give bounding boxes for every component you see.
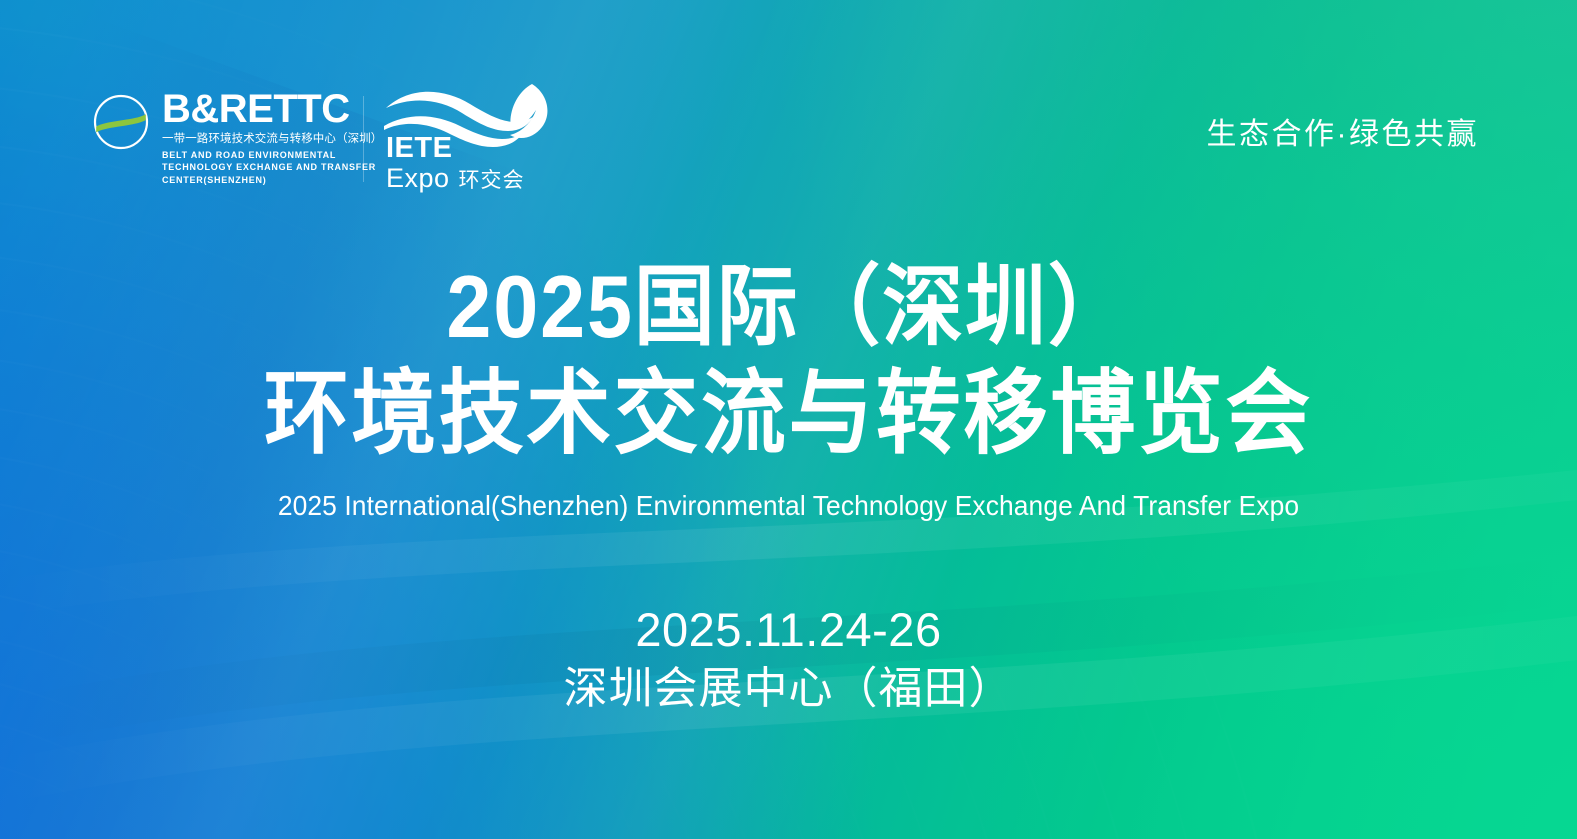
title-line-2: 环境技术交流与转移博览会 <box>63 368 1514 462</box>
title-line-1: 2025国际（深圳） <box>63 262 1514 352</box>
event-tagline: 生态合作·绿色共赢 <box>1207 109 1480 153</box>
brettc-english-name: BELT AND ROAD ENVIRONMENTAL TECHNOLOGY E… <box>162 149 377 187</box>
brettc-text-block: B&RETTC 一带一路环境技术交流与转移中心（深圳） BELT AND ROA… <box>162 90 382 187</box>
iete-subtitle-row: Expo 环交会 <box>386 165 525 192</box>
event-venue: 深圳会展中心（福田） <box>0 663 1577 715</box>
event-details-block: 2025.11.24-26 深圳会展中心（福田） <box>0 604 1577 715</box>
header-divider <box>363 96 364 182</box>
iete-expo-word: Expo <box>386 165 450 192</box>
brettc-chinese-name: 一带一路环境技术交流与转移中心（深圳） <box>162 132 382 148</box>
iete-expo-logo: IETE Expo 环交会 <box>382 82 552 192</box>
iete-chinese-short: 环交会 <box>459 170 525 191</box>
banner-header: B&RETTC 一带一路环境技术交流与转移中心（深圳） BELT AND ROA… <box>0 82 1577 192</box>
brettc-wordmark: B&RETTC <box>162 90 382 129</box>
brettc-logo: B&RETTC 一带一路环境技术交流与转移中心（深圳） BELT AND ROA… <box>92 90 382 187</box>
title-english-subtitle: 2025 International(Shenzhen) Environment… <box>32 490 1546 522</box>
banner-title-block: 2025国际（深圳） 环境技术交流与转移博览会 2025 Internation… <box>0 262 1577 522</box>
event-date: 2025.11.24-26 <box>0 604 1577 657</box>
iete-abbreviation: IETE <box>386 134 525 163</box>
iete-text-block: IETE Expo 环交会 <box>386 134 525 192</box>
event-banner: B&RETTC 一带一路环境技术交流与转移中心（深圳） BELT AND ROA… <box>0 0 1577 839</box>
globe-circle-green-band-icon <box>92 93 150 151</box>
